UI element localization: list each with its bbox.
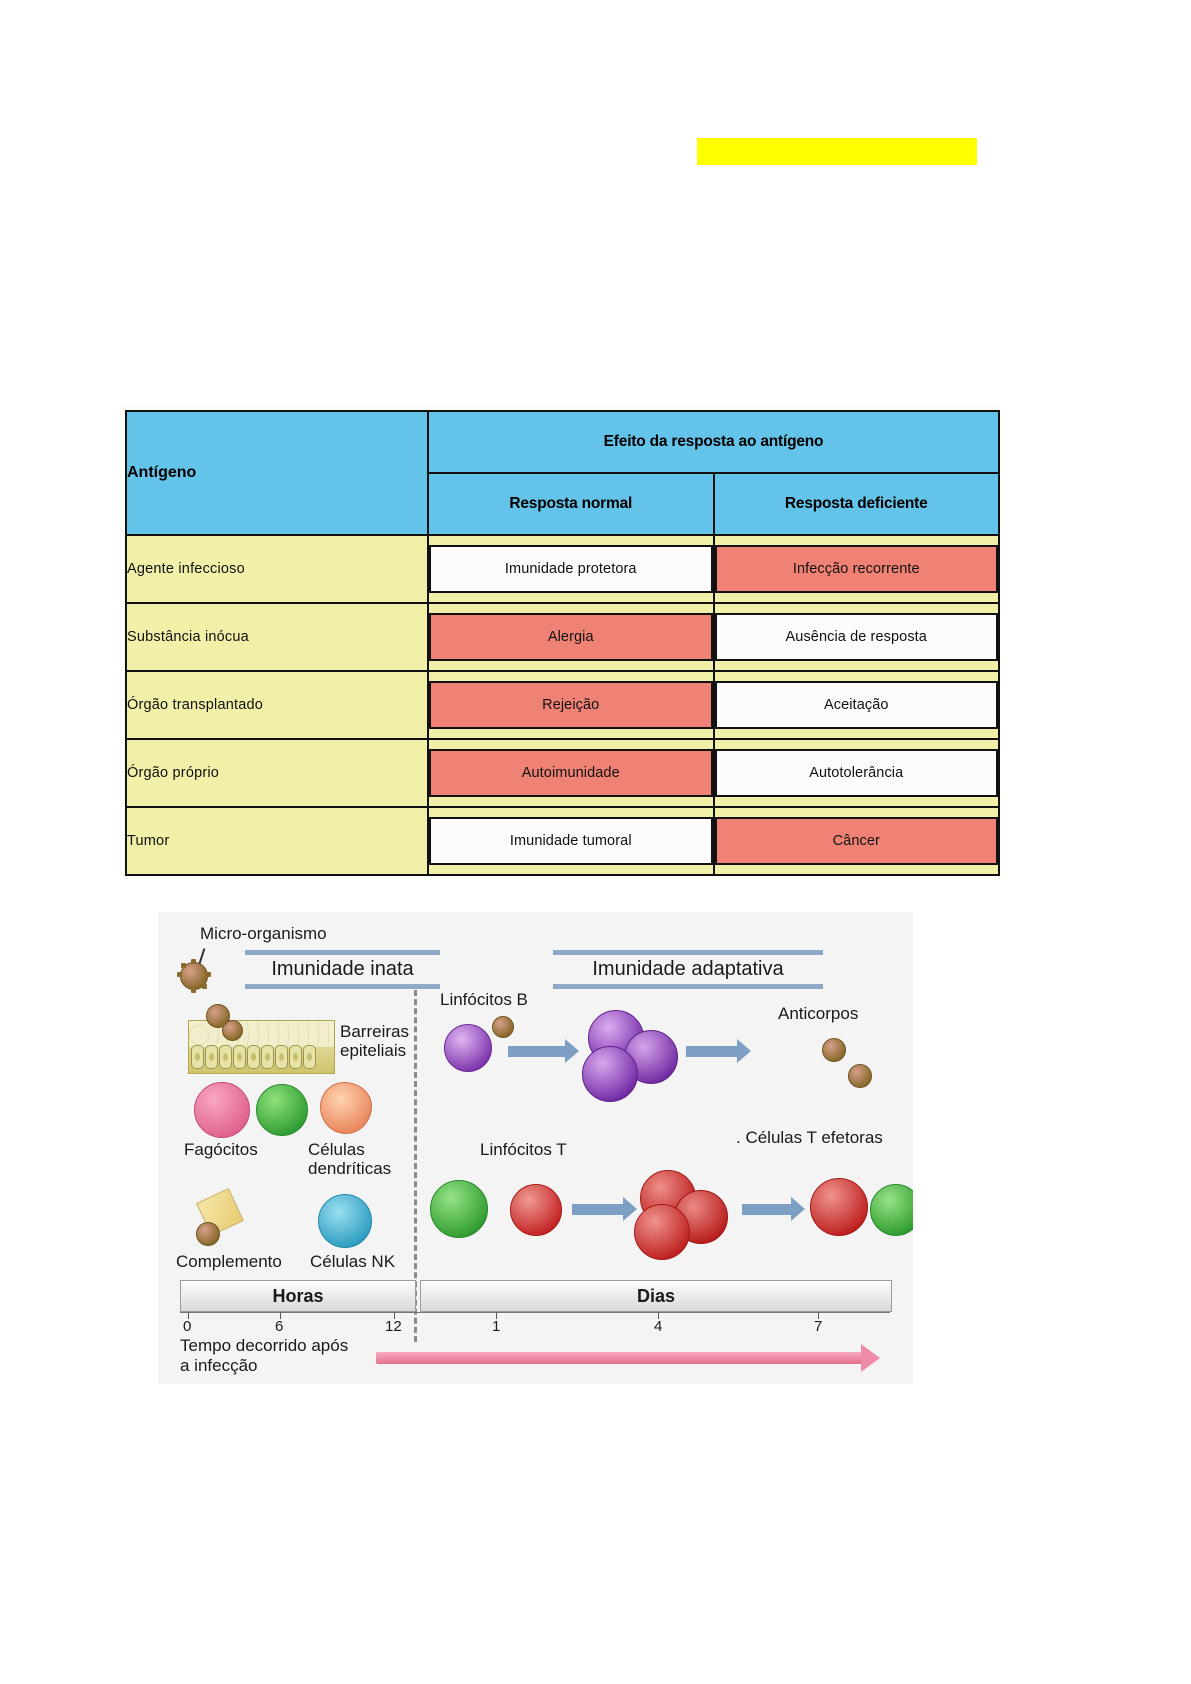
row-antigen-label: Órgão próprio xyxy=(126,739,428,807)
row-deficient-cell: Infecção recorrente xyxy=(714,535,1000,603)
row-normal-cell: Imunidade tumoral xyxy=(428,807,714,875)
header-effect: Efeito da resposta ao antígeno xyxy=(428,411,999,473)
row-deficient-cell: Autotolerância xyxy=(714,739,1000,807)
table-row: Substância inócua Alergia Ausência de re… xyxy=(126,603,999,671)
table-row: Órgão transplantado Rejeição Aceitação xyxy=(126,671,999,739)
banner-adaptive-immunity: Imunidade adaptativa xyxy=(553,950,823,989)
time-progression-arrow xyxy=(376,1352,862,1364)
row-normal-cell: Autoimunidade xyxy=(428,739,714,807)
antibodies-label: Anticorpos xyxy=(778,1004,858,1023)
row-normal-cell: Rejeição xyxy=(428,671,714,739)
tick-label-days-1: 1 xyxy=(492,1318,500,1335)
target-cell-icon xyxy=(870,1184,913,1236)
phagocyte-cell-icon xyxy=(194,1082,250,1138)
response-chip: Câncer xyxy=(715,817,999,865)
table-row: Agente infeccioso Imunidade protetora In… xyxy=(126,535,999,603)
nk-cell-icon xyxy=(318,1194,372,1248)
b-lymphocyte-clone-icon xyxy=(582,1046,638,1102)
effector-t-cells-label: . Células T efetoras xyxy=(736,1128,883,1147)
t-lymphocyte-clone-icon xyxy=(634,1204,690,1260)
timeline-days-bar: Dias xyxy=(420,1280,892,1312)
timeline-hours-bar: Horas xyxy=(180,1280,416,1312)
header-deficient-response: Resposta deficiente xyxy=(714,473,1000,535)
effector-arrow xyxy=(742,1204,792,1215)
response-chip: Alergia xyxy=(429,613,713,661)
microorganism-icon xyxy=(222,1020,241,1039)
banner-innate-immunity: Imunidade inata xyxy=(245,950,440,989)
antigen-presenting-cell-icon xyxy=(430,1180,488,1238)
row-normal-cell: Imunidade protetora xyxy=(428,535,714,603)
response-chip: Aceitação xyxy=(715,681,999,729)
response-chip: Imunidade protetora xyxy=(429,545,713,593)
b-lymphocyte-cell-icon xyxy=(444,1024,492,1072)
elapsed-time-caption: Tempo decorrido após a infecção xyxy=(180,1336,348,1375)
table-row: Órgão próprio Autoimunidade Autotolerânc… xyxy=(126,739,999,807)
microorganism-icon xyxy=(822,1038,844,1060)
dendritic-cell-icon xyxy=(320,1082,372,1134)
antigen-response-table: Antígeno Efeito da resposta ao antígeno … xyxy=(125,410,1000,876)
row-normal-cell: Alergia xyxy=(428,603,714,671)
tick-label-hours-6: 6 xyxy=(275,1318,283,1335)
t-lymphocyte-cell-icon xyxy=(510,1184,562,1236)
response-chip: Autoimunidade xyxy=(429,749,713,797)
tick-label-hours-12: 12 xyxy=(385,1318,402,1335)
yellow-highlight-marker xyxy=(697,138,977,165)
antigen-response-table-container: Antígeno Efeito da resposta ao antígeno … xyxy=(120,405,1000,875)
dendritic-cells-label: Células dendríticas xyxy=(308,1140,391,1178)
response-chip: Ausência de resposta xyxy=(715,613,999,661)
timeline-axis xyxy=(180,1312,890,1313)
epithelial-barrier-icon xyxy=(188,1020,335,1074)
table-header-row-1: Antígeno Efeito da resposta ao antígeno xyxy=(126,411,999,473)
epithelial-barriers-label: Barreiras epiteliais xyxy=(340,1022,409,1060)
row-deficient-cell: Aceitação xyxy=(714,671,1000,739)
proliferation-arrow-t xyxy=(572,1204,624,1215)
complement-label: Complemento xyxy=(176,1252,282,1271)
row-deficient-cell: Câncer xyxy=(714,807,1000,875)
b-lymphocytes-label: Linfócitos B xyxy=(440,990,528,1009)
row-antigen-label: Agente infeccioso xyxy=(126,535,428,603)
microorganism-label: Micro-organismo xyxy=(200,924,327,943)
tick-label-hours-0: 0 xyxy=(183,1318,191,1335)
immunity-timeline-diagram: Micro-organismo Imunidade inata Imunidad… xyxy=(158,912,913,1384)
row-deficient-cell: Ausência de resposta xyxy=(714,603,1000,671)
microorganism-icon xyxy=(848,1064,870,1086)
phagocytes-label: Fagócitos xyxy=(184,1140,258,1159)
microorganism-icon xyxy=(196,1222,218,1244)
proliferation-arrow-b xyxy=(508,1046,566,1057)
tick-label-days-7: 7 xyxy=(814,1318,822,1335)
row-antigen-label: Tumor xyxy=(126,807,428,875)
tick-label-days-4: 4 xyxy=(654,1318,662,1335)
header-antigen: Antígeno xyxy=(126,411,428,535)
t-lymphocytes-label: Linfócitos T xyxy=(480,1140,567,1159)
row-antigen-label: Órgão transplantado xyxy=(126,671,428,739)
response-chip: Imunidade tumoral xyxy=(429,817,713,865)
effector-t-cell-icon xyxy=(810,1178,868,1236)
row-antigen-label: Substância inócua xyxy=(126,603,428,671)
nk-cells-label: Células NK xyxy=(310,1252,395,1271)
response-chip: Autotolerância xyxy=(715,749,999,797)
microorganism-icon xyxy=(180,962,206,988)
header-normal-response: Resposta normal xyxy=(428,473,714,535)
phagocyte-cell-icon xyxy=(256,1084,308,1136)
table-row: Tumor Imunidade tumoral Câncer xyxy=(126,807,999,875)
response-chip: Rejeição xyxy=(429,681,713,729)
response-chip: Infecção recorrente xyxy=(715,545,999,593)
microorganism-icon xyxy=(492,1016,512,1036)
antibody-production-arrow xyxy=(686,1046,738,1057)
